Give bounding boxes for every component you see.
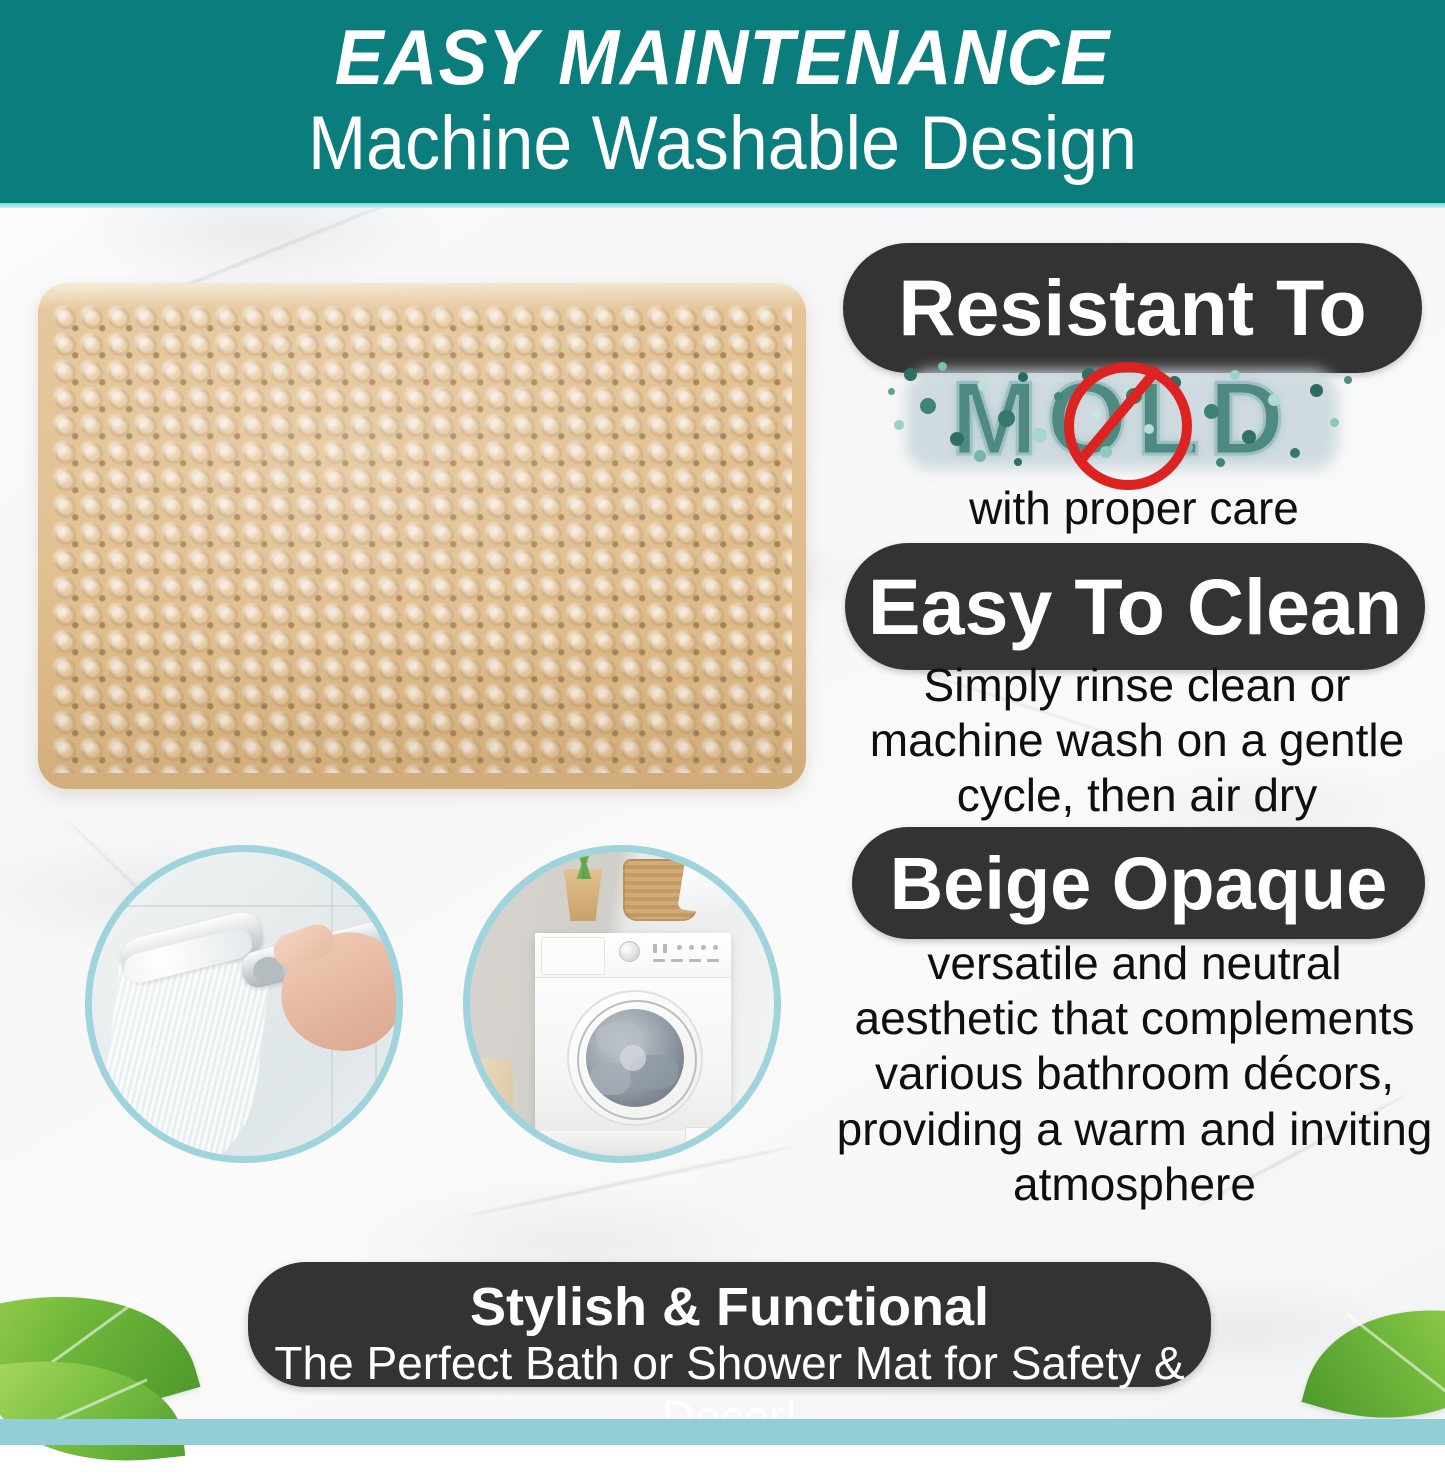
- bottom-banner: Stylish & Functional The Perfect Bath or…: [248, 1262, 1211, 1387]
- prohibition-circle-icon: [1064, 362, 1192, 490]
- washing-machine-photo-ring: [463, 845, 781, 1163]
- bottom-accent-bar: [0, 1419, 1445, 1445]
- bath-mat-surface: [38, 283, 806, 789]
- mat-shading: [38, 283, 806, 789]
- shower-photo-ring: [85, 845, 403, 1163]
- badge-easy-to-clean: Easy To Clean: [845, 543, 1425, 670]
- mold-graphic: MOLD: [886, 358, 1358, 480]
- bath-mat-image: [38, 283, 806, 789]
- page-subtitle: Machine Washable Design: [58, 104, 1387, 185]
- header-banner: EASY MAINTENANCE Machine Washable Design: [0, 0, 1445, 207]
- header-underline: [0, 203, 1445, 208]
- page-title: EASY MAINTENANCE: [43, 16, 1401, 99]
- caption-beige-opaque: versatile and neutral aesthetic that com…: [832, 936, 1437, 1212]
- banner-title: Stylish & Functional: [248, 1276, 1211, 1338]
- badge-beige-opaque: Beige Opaque: [852, 827, 1425, 939]
- caption-mold: with proper care: [845, 481, 1423, 536]
- caption-easy-to-clean: Simply rinse clean or machine wash on a …: [848, 658, 1426, 824]
- badge-resistant-to: Resistant To: [843, 243, 1422, 373]
